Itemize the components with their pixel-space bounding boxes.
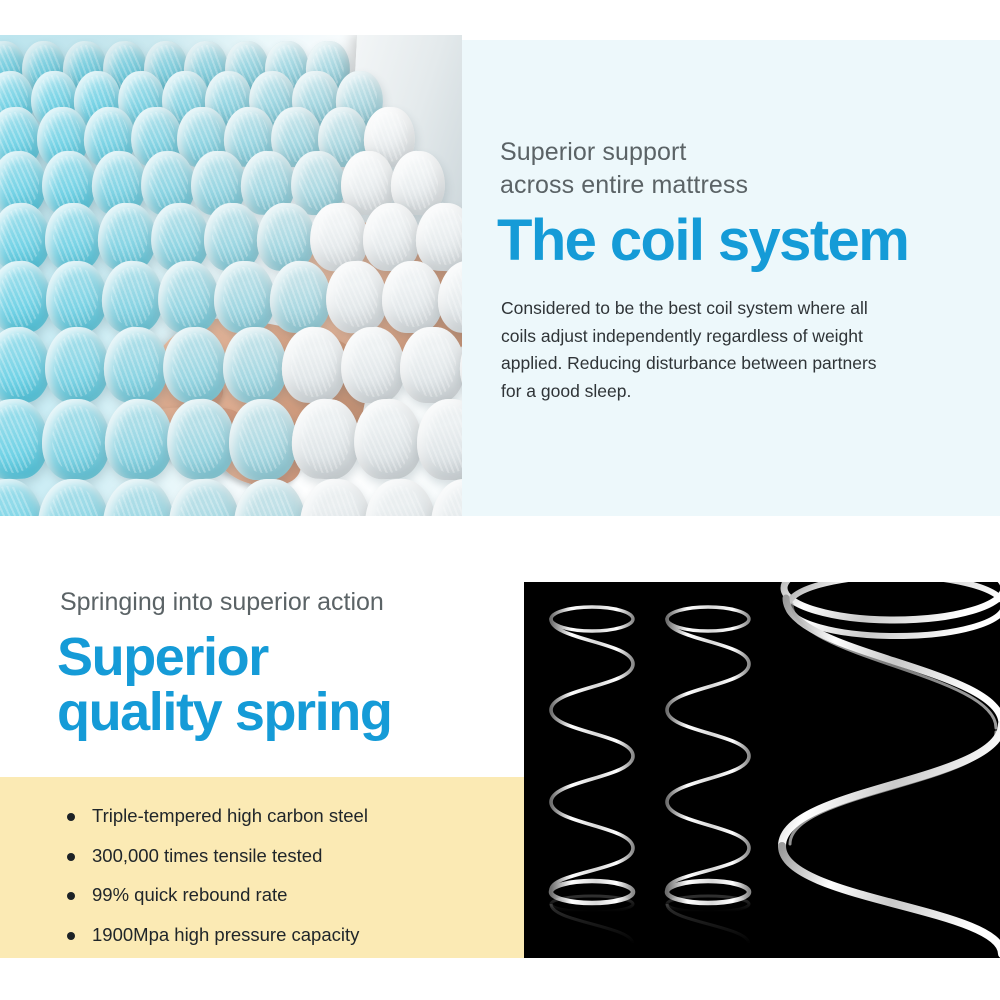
pocket-coil xyxy=(204,203,262,271)
bullet-dot-icon xyxy=(67,932,75,940)
spring-title-line-1: Superior xyxy=(57,630,517,685)
coil-system-title: The coil system xyxy=(497,212,967,270)
spring-kicker: Springing into superior action xyxy=(60,586,490,619)
coil-system-kicker-line-2: across entire mattress xyxy=(500,169,940,202)
spring-title-line-2: quality spring xyxy=(57,685,517,740)
spring-spec-item: 300,000 times tensile tested xyxy=(64,847,484,866)
spring-spec-label: Triple-tempered high carbon steel xyxy=(92,805,368,826)
bullet-dot-icon xyxy=(67,813,75,821)
spring-spec-item: Triple-tempered high carbon steel xyxy=(64,807,484,826)
coil-system-kicker: Superior support across entire mattress xyxy=(500,136,940,201)
pocket-coil xyxy=(382,261,443,333)
spring-spec-label: 1900Mpa high pressure capacity xyxy=(92,924,359,945)
bullet-dot-icon xyxy=(67,853,75,861)
product-feature-page: Superior support across entire mattress … xyxy=(0,0,1000,1000)
spring-spec-label: 300,000 times tensile tested xyxy=(92,845,322,866)
pocket-coil xyxy=(214,261,275,333)
pocket-coil xyxy=(46,261,107,333)
spring-spec-item: 99% quick rebound rate xyxy=(64,886,484,905)
coil-system-kicker-line-1: Superior support xyxy=(500,136,940,169)
coil-system-body: Considered to be the best coil system wh… xyxy=(501,295,901,406)
spring-spec-item: 1900Mpa high pressure capacity xyxy=(64,926,484,945)
coil-system-panel xyxy=(462,40,1000,516)
pocket-coil xyxy=(290,398,361,480)
coil-spring-illustration xyxy=(524,582,1000,958)
spring-spec-label: 99% quick rebound rate xyxy=(92,884,287,905)
pocket-spring-grid xyxy=(0,35,462,516)
pocket-spring-photo xyxy=(0,35,462,516)
coil-spring-photo xyxy=(524,582,1000,958)
spring-specs-list: Triple-tempered high carbon steel300,000… xyxy=(64,807,484,965)
spring-specs-box: Triple-tempered high carbon steel300,000… xyxy=(0,777,524,958)
pocket-coil xyxy=(103,398,174,480)
pocket-coil xyxy=(100,260,163,334)
spring-title: Superior quality spring xyxy=(57,630,517,740)
pocket-coil xyxy=(42,399,110,479)
pocket-coil xyxy=(229,399,297,479)
bullet-dot-icon xyxy=(67,892,75,900)
pocket-coil xyxy=(223,327,287,403)
pocket-coil xyxy=(45,327,109,403)
pocket-coil xyxy=(400,327,462,403)
